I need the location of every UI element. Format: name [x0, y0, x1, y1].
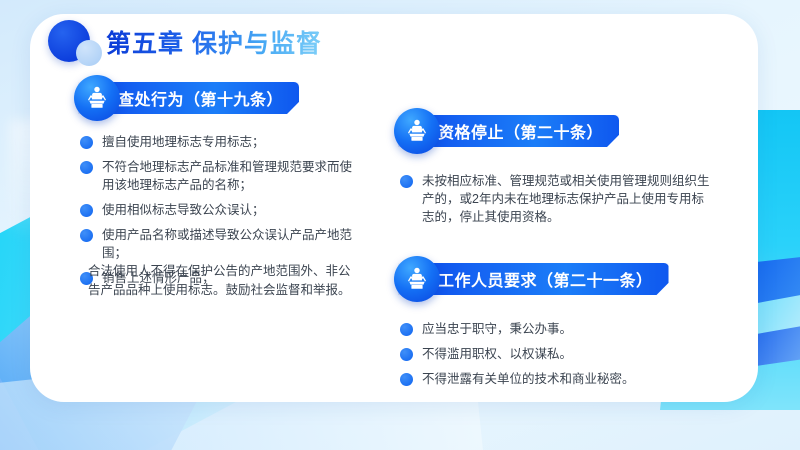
speaker-podium-icon	[74, 75, 120, 121]
list-item: 擅自使用地理标志专用标志；	[80, 133, 360, 151]
list-item-text: 使用产品名称或描述导致公众误认产品产地范围；	[102, 226, 360, 262]
list-item: 应当忠于职守，秉公办事。	[400, 320, 710, 338]
list-item-text: 使用相似标志导致公众误认；	[102, 201, 265, 219]
bullet-dot-icon	[80, 136, 93, 149]
section-header-2[interactable]: 资格停止（第二十条）	[398, 115, 619, 147]
section-paragraph-1: 合法使用人不得在保护公告的产地范围外、非公告产品品种上使用标志。鼓励社会监督和举…	[88, 262, 356, 300]
page-title-row: 第五章 保护与监督	[48, 18, 322, 66]
bullet-dot-icon	[400, 323, 413, 336]
section-heading-text: 资格停止（第二十条）	[438, 119, 603, 143]
list-item-text: 不符合地理标志产品标准和管理规范要求而使用该地理标志产品的名称；	[102, 158, 360, 194]
list-item-text: 不得滥用职权、以权谋私。	[422, 345, 572, 363]
list-item-text: 未按相应标准、管理规范或相关使用管理规则组织生产的，或2年内未在地理标志保护产品…	[422, 172, 710, 226]
speaker-podium-icon	[394, 108, 440, 154]
list-item-text: 擅自使用地理标志专用标志；	[102, 133, 265, 151]
list-item: 未按相应标准、管理规范或相关使用管理规则组织生产的，或2年内未在地理标志保护产品…	[400, 172, 710, 226]
bullet-dot-icon	[80, 204, 93, 217]
list-item: 不得泄露有关单位的技术和商业秘密。	[400, 370, 710, 388]
section-body-3: 应当忠于职守，秉公办事。 不得滥用职权、以权谋私。 不得泄露有关单位的技术和商业…	[400, 320, 710, 395]
list-item: 使用相似标志导致公众误认；	[80, 201, 360, 219]
section-header-1[interactable]: 查处行为（第十九条）	[78, 82, 299, 114]
bullet-dot-icon	[80, 161, 93, 174]
speaker-podium-icon	[394, 256, 440, 302]
list-item: 不得滥用职权、以权谋私。	[400, 345, 710, 363]
section-header-3[interactable]: 工作人员要求（第二十一条）	[398, 263, 669, 295]
section-body-2: 未按相应标准、管理规范或相关使用管理规则组织生产的，或2年内未在地理标志保护产品…	[400, 172, 710, 233]
list-item: 不符合地理标志产品标准和管理规范要求而使用该地理标志产品的名称；	[80, 158, 360, 194]
page-title: 第五章 保护与监督	[106, 24, 322, 60]
paragraph-text: 合法使用人不得在保护公告的产地范围外、非公告产品品种上使用标志。鼓励社会监督和举…	[88, 262, 356, 300]
list-item: 使用产品名称或描述导致公众误认产品产地范围；	[80, 226, 360, 262]
bullet-dot-icon	[400, 373, 413, 386]
bullet-dot-icon	[400, 175, 413, 188]
section-heading-text: 查处行为（第十九条）	[118, 86, 283, 110]
section-heading-text: 工作人员要求（第二十一条）	[438, 267, 653, 291]
title-decoration-dots	[48, 18, 106, 66]
bullet-dot-icon	[400, 348, 413, 361]
list-item-text: 不得泄露有关单位的技术和商业秘密。	[422, 370, 635, 388]
bullet-dot-icon	[80, 229, 93, 242]
small-circle-icon	[76, 40, 102, 66]
list-item-text: 应当忠于职守，秉公办事。	[422, 320, 572, 338]
